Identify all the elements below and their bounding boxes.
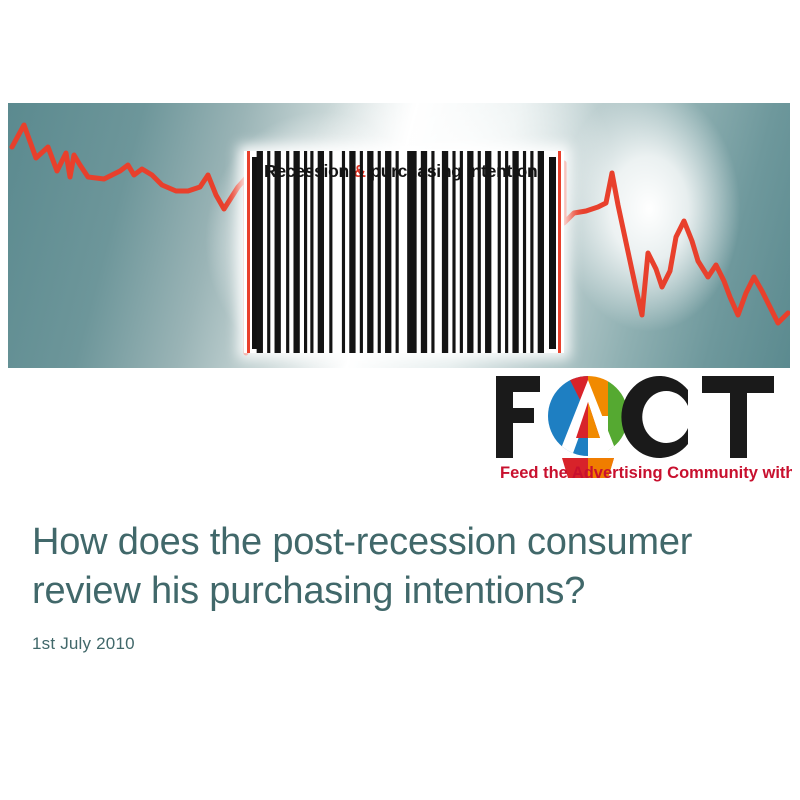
banner-image: Recession & purchasing intention — [8, 103, 790, 368]
chart-line-right — [564, 163, 788, 323]
fact-logo-graphic: Feed the Advertising Community with Tren… — [492, 368, 792, 486]
title-block: How does the post-recession consumer rev… — [32, 518, 772, 654]
logo-letter-c — [621, 376, 688, 458]
logo-letter-f — [496, 376, 540, 458]
barcode-bars — [244, 151, 564, 353]
logo-tagline: Feed the Advertising Community with Tren… — [500, 464, 792, 482]
barcode-graphic: Recession & purchasing intention — [244, 151, 564, 353]
slide-date: 1st July 2010 — [32, 634, 772, 654]
logo-letter-a-emblem — [548, 376, 630, 478]
logo-letter-t — [702, 376, 774, 458]
fact-logo: Feed the Advertising Community with Tren… — [492, 368, 792, 486]
chart-line-left — [12, 125, 246, 353]
page-title: How does the post-recession consumer rev… — [32, 518, 772, 616]
presentation-slide: Recession & purchasing intention — [0, 0, 800, 800]
